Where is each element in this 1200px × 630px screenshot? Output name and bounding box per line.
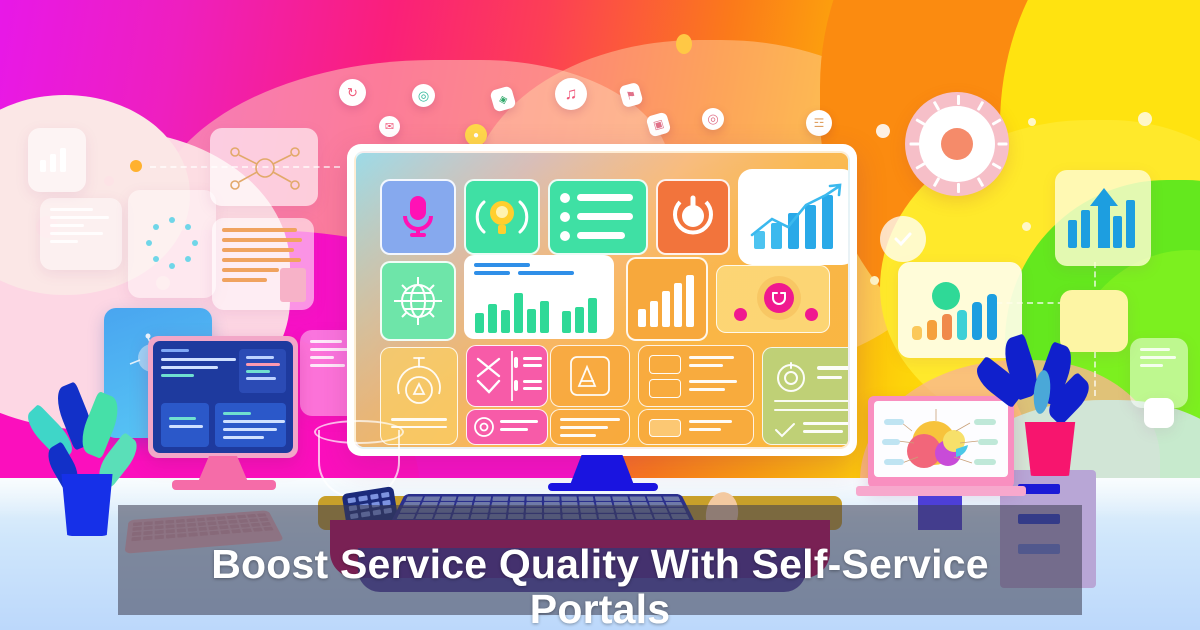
main-monitor[interactable] [347,144,857,456]
secondary-monitor [148,336,298,458]
float-card-loader [128,190,216,298]
monitor-stand-base [548,483,658,491]
music-note-icon: ♫ [555,78,587,110]
placeholder-lines-small [310,340,350,372]
bar-chart-bars [473,281,605,333]
checklist-box-1 [649,355,681,374]
notification-dot-right [805,308,818,321]
float-card-growth-bars [1055,170,1151,266]
badge-glyph: ◈ [497,92,509,107]
gauge-center-dot [941,128,973,160]
tile-list[interactable] [548,179,648,255]
float-card-thumb [280,268,306,302]
dot-cream-1 [876,124,890,138]
target-glyph: ◎ [707,111,718,127]
tile-checklist-top[interactable] [638,345,754,407]
poster-canvas: ↻ ◎ ✉ ◈ ● ♫ ⚑ ▣ ◎ ☲ [0,0,1200,630]
laptop-base [856,486,1026,496]
check-badge-icon [880,216,926,262]
notification-dot-left [734,308,747,321]
float-card-text-2 [212,218,314,310]
dot-yellow [676,34,692,54]
tile-timer-check[interactable] [762,347,850,445]
float-card-network [210,128,318,206]
plant-pot-left [58,474,116,536]
music-note-glyph: ♫ [565,84,578,104]
dashed-connector-vertical-2 [1094,352,1096,396]
main-monitor-screen[interactable] [354,151,850,449]
dot-cream-3 [1028,118,1036,126]
tile-lightbulb[interactable] [464,179,540,255]
target-icon: ◎ [702,108,724,130]
tile-growth-chart[interactable] [738,169,850,265]
dial-gauge [905,92,1009,196]
note-glyph: ⚑ [624,87,637,102]
checklist-box-3 [649,419,681,437]
dot-cream-4 [1022,222,1031,231]
tile-chart-square[interactable] [550,345,630,407]
tile-notification[interactable] [716,265,830,333]
laptop-screen [874,401,1008,477]
dot-cream-2 [1138,112,1152,126]
cocktail-glyph: ☲ [814,116,825,130]
chart-card-sub-line-1 [474,271,510,275]
chat-icon: ✉ [379,116,400,137]
dot-orange-1 [130,160,142,172]
tile-globe-target[interactable] [380,261,456,341]
secondary-monitor-base [172,480,276,490]
secondary-monitor-screen [153,341,293,453]
chart-card-sub-line-2 [518,271,574,275]
float-card-yellow [1060,290,1128,352]
float-card-text-1 [40,198,122,270]
circle-glyph: ◎ [418,88,429,104]
refresh-glyph: ↻ [347,85,358,101]
tile-bar-chart-card[interactable] [464,255,614,339]
tile-microphone[interactable] [380,179,456,255]
placeholder-lines-right [1140,348,1178,372]
laptop[interactable] [868,396,1014,488]
coin-icon: ● [465,124,487,146]
tile-shuffle[interactable] [466,345,548,407]
tile-text-lines[interactable] [550,409,630,445]
checklist-box-2 [649,379,681,398]
dashboard-grid [380,179,826,431]
tile-power[interactable] [656,179,730,255]
dot-pink-2 [104,176,114,186]
float-card-bars [28,128,86,192]
coin-glyph: ● [473,130,479,141]
tile-checklist-bottom[interactable] [638,409,754,445]
chart-card-title-line [474,263,530,267]
float-card-white-small [1144,398,1174,428]
tile-bar-chart-orange[interactable] [626,257,708,341]
cocktail-icon: ☲ [806,110,832,136]
placeholder-lines [50,208,112,248]
page-title: Boost Service Quality With Self-Service … [118,532,1082,630]
plant-pot-right [1022,422,1078,476]
dot-cream-5 [870,276,879,285]
tile-divider [511,351,513,401]
float-card-mixed-bars [898,262,1022,358]
notification-badge [764,283,794,313]
photo-glyph: ▣ [652,117,666,132]
chat-glyph: ✉ [385,120,394,133]
refresh-icon: ↻ [339,79,366,106]
tile-clock-pink[interactable] [466,409,548,445]
circle-icon: ◎ [412,84,435,107]
